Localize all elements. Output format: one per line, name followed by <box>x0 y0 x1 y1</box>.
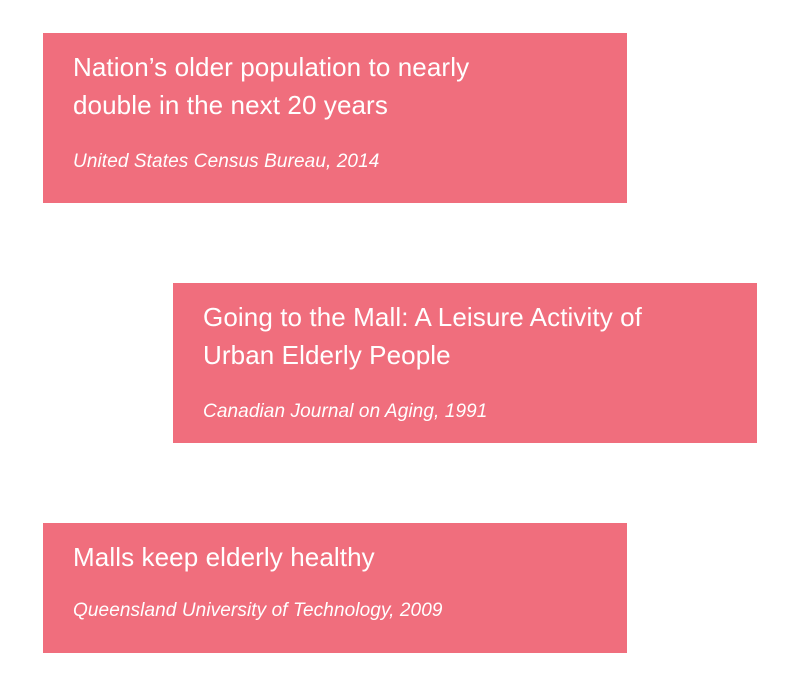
citation-headline: Going to the Mall: A Leisure Activity of… <box>203 298 727 374</box>
slide-canvas: Nation’s older population to nearly doub… <box>0 0 793 694</box>
citation-source: Queensland University of Technology, 200… <box>73 598 597 624</box>
citation-card-2: Going to the Mall: A Leisure Activity of… <box>173 283 757 443</box>
citation-source: United States Census Bureau, 2014 <box>73 149 597 175</box>
citation-headline: Nation’s older population to nearly doub… <box>73 48 597 124</box>
citation-headline: Malls keep elderly healthy <box>73 538 597 576</box>
citation-card-1: Nation’s older population to nearly doub… <box>43 33 627 203</box>
citation-source: Canadian Journal on Aging, 1991 <box>203 399 727 425</box>
citation-card-3: Malls keep elderly healthy Queensland Un… <box>43 523 627 653</box>
